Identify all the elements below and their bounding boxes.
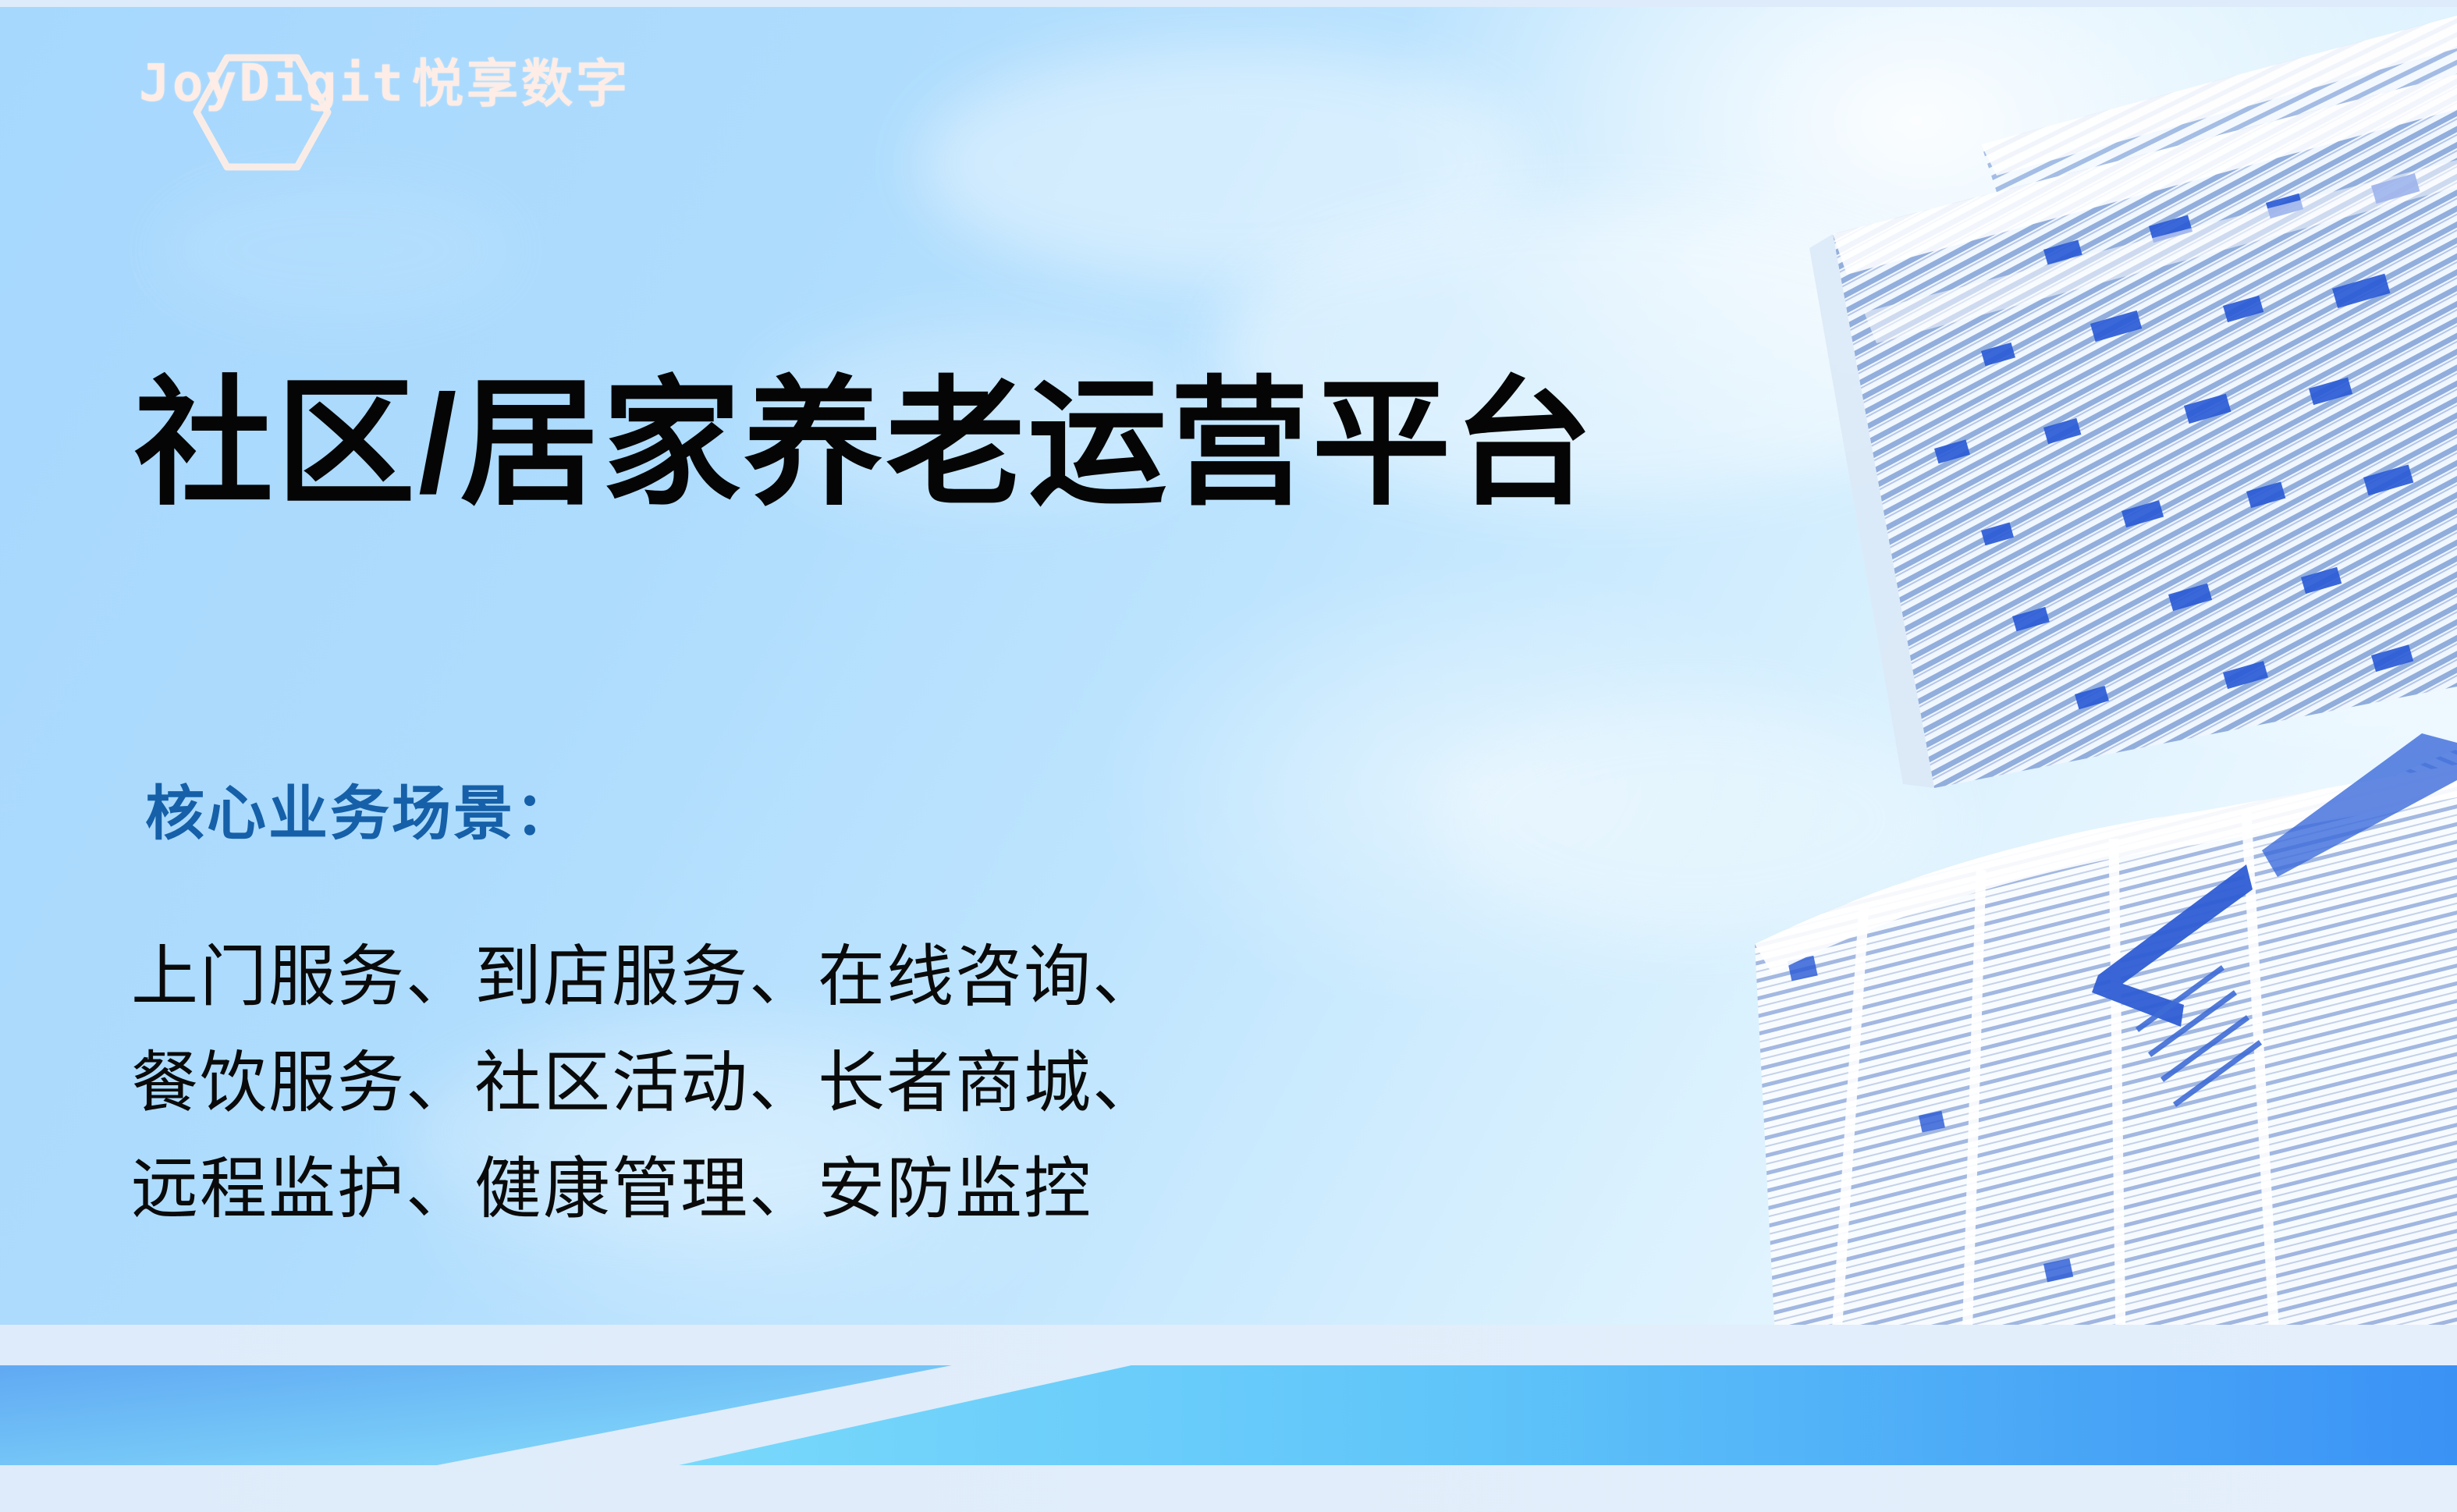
logo-chinese-name: 悦享数字 (412, 58, 630, 109)
slide-root: JoyDigit 悦享数字 社区/居家养老运营平台 核心业务场景： 上门服务、到… (0, 0, 2457, 1512)
scenario-line: 上门服务、到店服务、在线咨询、 (131, 925, 1614, 1031)
scenario-line: 餐饮服务、社区活动、长者商城、 (131, 1031, 1614, 1137)
scenario-line: 远程监护、健康管理、安防监控 (131, 1137, 1614, 1243)
page-title: 社区/居家养老运营平台 (134, 364, 1596, 524)
bottom-band-svg (0, 1325, 2457, 1512)
logo-mark: JoyDigit (139, 34, 396, 132)
sky-background (0, 0, 2457, 1512)
scenario-list: 上门服务、到店服务、在线咨询、 餐饮服务、社区活动、长者商城、 远程监护、健康管… (131, 925, 1614, 1243)
brand-logo: JoyDigit 悦享数字 (139, 34, 630, 132)
section-heading: 核心业务场景： (145, 779, 577, 850)
logo-wordmark: JoyDigit (139, 58, 406, 109)
top-edge-strip (0, 0, 2457, 7)
bottom-decoration (0, 1325, 2457, 1512)
